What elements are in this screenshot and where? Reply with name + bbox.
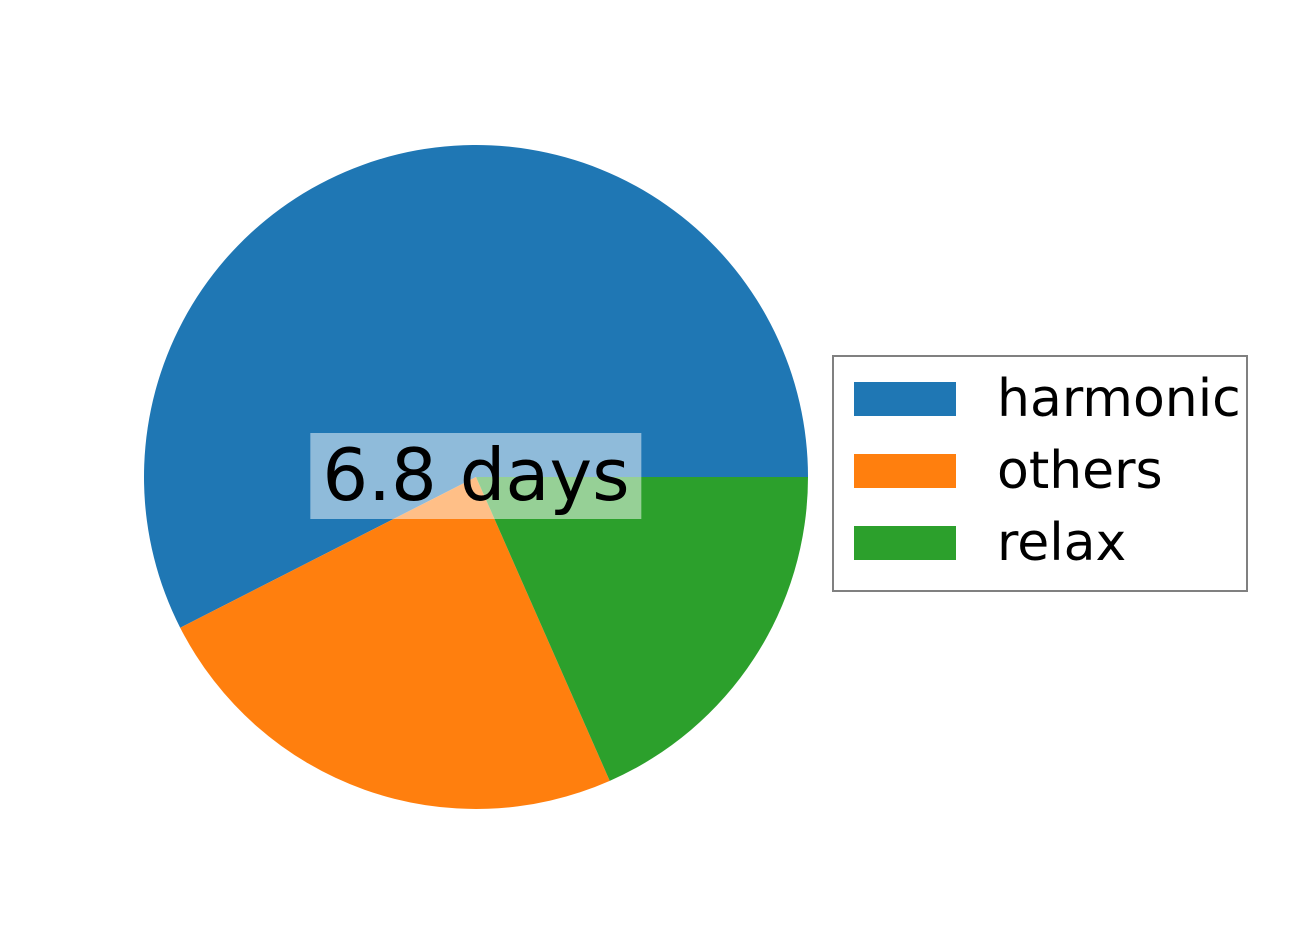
- legend-swatch-others: [854, 454, 956, 488]
- legend-swatch-relax: [854, 526, 956, 560]
- legend-item-harmonic[interactable]: harmonic: [854, 371, 1241, 427]
- legend-item-others[interactable]: others: [854, 443, 1163, 499]
- legend-label-relax: relax: [997, 515, 1126, 571]
- legend-swatch-harmonic: [854, 382, 956, 416]
- figure-canvas: 6.8 days harmonic others relax: [0, 0, 1307, 951]
- legend-label-harmonic: harmonic: [997, 371, 1241, 427]
- legend-box: harmonic others relax: [832, 355, 1248, 592]
- legend-item-relax[interactable]: relax: [854, 515, 1126, 571]
- legend-label-others: others: [997, 443, 1163, 499]
- pie-center-label: 6.8 days: [310, 433, 641, 519]
